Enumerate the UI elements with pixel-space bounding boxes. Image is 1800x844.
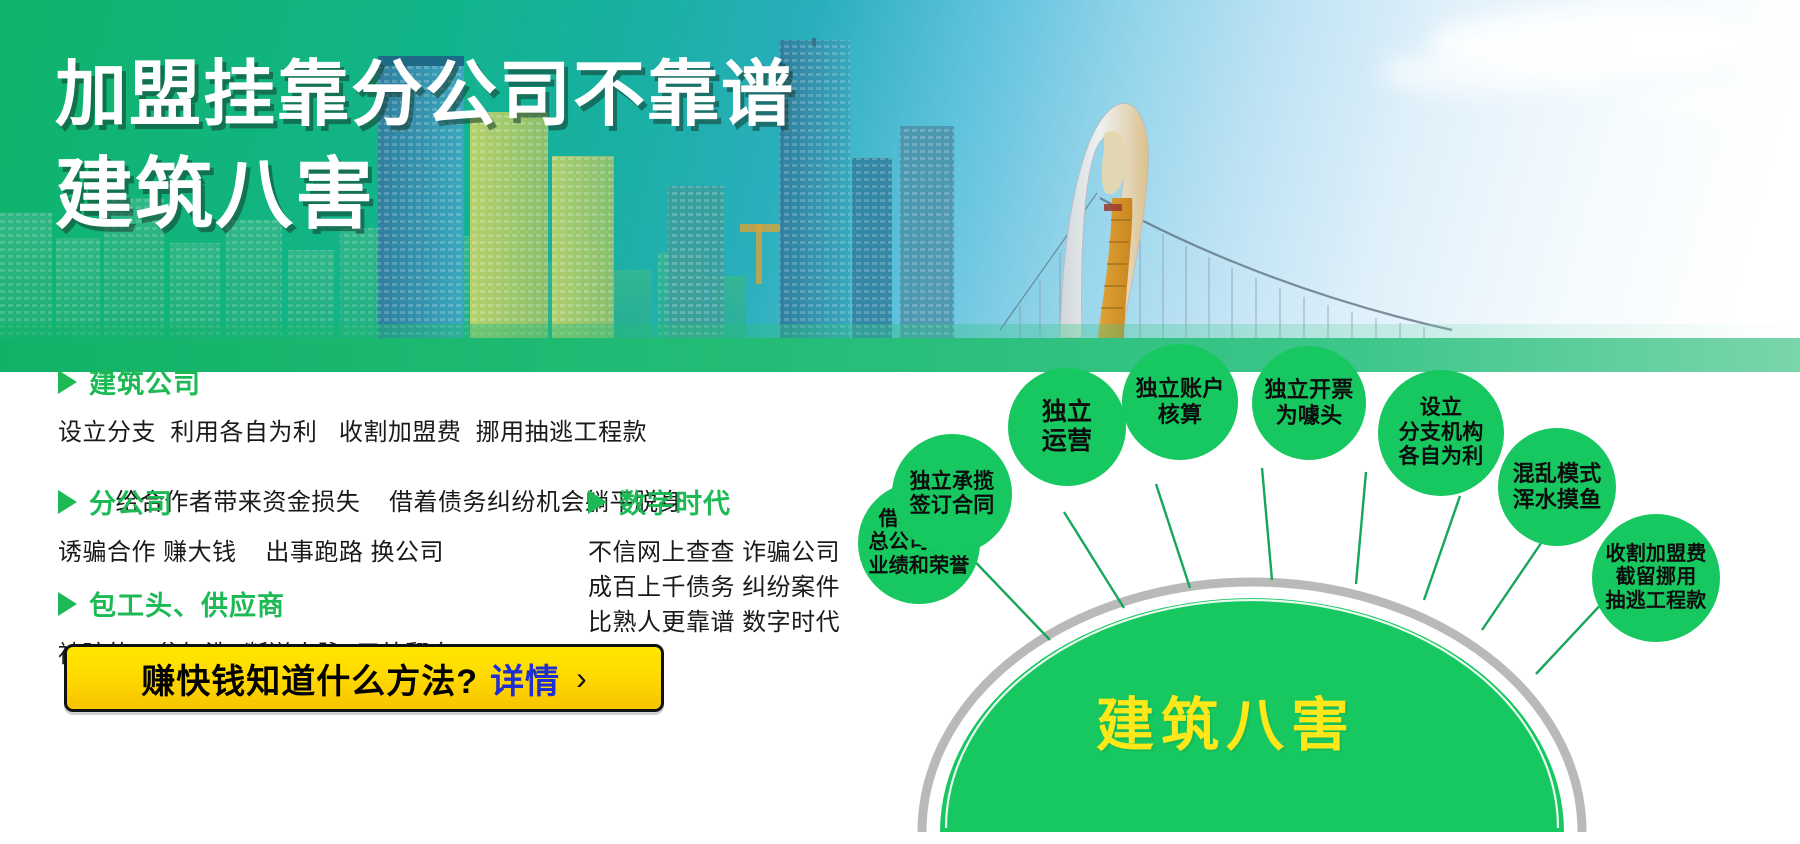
cta-main-label: 赚快钱知道什么方法?	[141, 654, 478, 703]
bubble-independent-invoicing[interactable]: 独立开票 为噱头	[1252, 346, 1366, 460]
poster-root: 加盟挂靠分公司不靠谱 建筑八害 建筑公司 设立分支 利用各自为利 收割加盟费 挪…	[0, 0, 1800, 844]
bubble-set-up-branches[interactable]: 设立 分支机构 各自为利	[1378, 370, 1504, 496]
bubble-label: 设立 分支机构 各自为利	[1399, 396, 1484, 469]
bubble-label: 混乱模式 浑水摸鱼	[1513, 461, 1602, 512]
section-title: 分公司	[89, 482, 173, 521]
section-header: 建筑公司	[58, 362, 683, 401]
hero-title: 加盟挂靠分公司不靠谱 建筑八害	[55, 52, 795, 242]
hero-title-line2: 建筑八害	[55, 146, 795, 242]
bubble-label: 独立账户 核算	[1136, 376, 1225, 427]
left-content-column: 建筑公司 设立分支 利用各自为利 收割加盟费 挪用抽逃工程款 给合作者带来资金损…	[0, 372, 920, 844]
bubble-chaotic-mode[interactable]: 混乱模式 浑水摸鱼	[1498, 428, 1616, 546]
triangle-bullet-icon	[588, 490, 607, 514]
section-header: 数字时代	[588, 482, 840, 521]
bubble-label: 收割加盟费 截留挪用 抽逃工程款	[1606, 543, 1707, 613]
section-line: 不信网上查查 诈骗公司	[588, 535, 840, 570]
dome-label: 建筑八害	[1096, 678, 1356, 762]
bubble-independent-operation[interactable]: 独立 运营	[1008, 368, 1126, 486]
section-line: 诱骗合作 赚大钱 出事跑路 换公司	[58, 535, 444, 570]
cloud-icon	[1620, 86, 1770, 122]
section-line: 设立分支 利用各自为利 收割加盟费 挪用抽逃工程款	[58, 415, 683, 450]
bubble-diagram: 借着使用 总公司资质 业绩和荣誉 独立承揽 签订合同 独立 运营 独立账户 核算	[900, 372, 1800, 844]
bubble-independent-account[interactable]: 独立账户 核算	[1122, 344, 1238, 460]
hero-title-line1: 加盟挂靠分公司不靠谱	[55, 52, 795, 138]
section-line: 比熟人更靠谱 数字时代	[588, 605, 840, 640]
bubble-label: 独立开票 为噱头	[1265, 377, 1354, 428]
section-digital-era: 数字时代 不信网上查查 诈骗公司 成百上千债务 纠纷案件 比熟人更靠谱 数字时代	[588, 482, 840, 640]
section-header: 分公司	[58, 482, 444, 521]
cta-button[interactable]: 赚快钱知道什么方法? 详情 ›	[64, 644, 664, 712]
section-line: 成百上千债务 纠纷案件	[588, 570, 840, 605]
triangle-bullet-icon	[58, 370, 77, 394]
hero-ground-shadow	[0, 324, 1800, 338]
section-title: 数字时代	[619, 482, 731, 521]
section-branch-company: 分公司 诱骗合作 赚大钱 出事跑路 换公司	[58, 482, 444, 570]
chevron-right-icon: ›	[576, 660, 587, 697]
bubble-harvest-franchise-fee[interactable]: 收割加盟费 截留挪用 抽逃工程款	[1592, 514, 1720, 642]
section-header: 包工头、供应商	[58, 584, 454, 623]
cta-detail-link[interactable]: 详情	[490, 654, 560, 703]
bridge-illustration	[1000, 38, 1470, 338]
bubble-independent-contracting[interactable]: 独立承揽 签订合同	[892, 434, 1012, 554]
bubble-label: 独立承揽 签订合同	[910, 470, 995, 519]
triangle-bullet-icon	[58, 490, 77, 514]
section-title: 包工头、供应商	[89, 584, 285, 623]
section-title: 建筑公司	[89, 362, 201, 401]
hero-banner: 加盟挂靠分公司不靠谱 建筑八害	[0, 0, 1800, 372]
triangle-bullet-icon	[58, 592, 77, 616]
bubble-label: 独立 运营	[1042, 398, 1092, 456]
